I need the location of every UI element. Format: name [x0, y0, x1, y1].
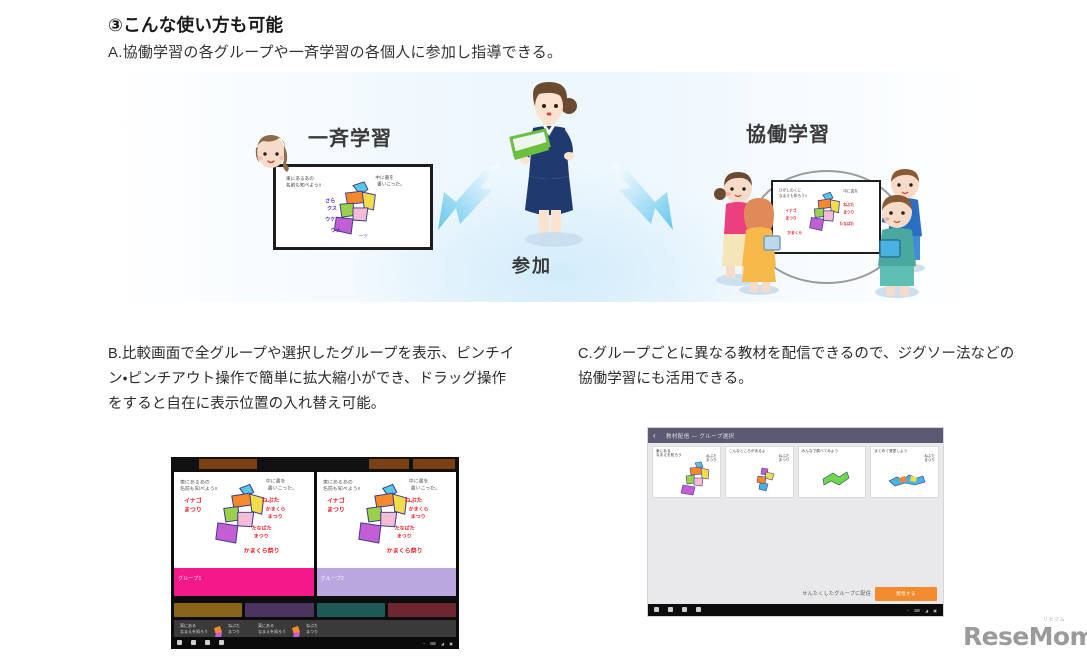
card-title: みんなで調べてみよう [802, 449, 839, 453]
pane-right-footer-text: グループ2 [321, 575, 344, 582]
screenshot-material-distribution: ‹ 教材配信 ― グループ選択 東にあるなまえを知ろう ねぶたまつり こんなとこ… [647, 427, 944, 617]
pane-left[interactable]: 東にあるあの 名前も知ぺよう!! 中に書を 書いこった。 イナゴ まつり ねぶた… [174, 472, 314, 596]
svg-text:名前も知ぺよう!!: 名前も知ぺよう!! [322, 485, 360, 492]
svg-text:書いこった。: 書いこった。 [410, 484, 439, 491]
svg-text:中に書を: 中に書を [408, 478, 428, 485]
svg-text:まつり: まつり [843, 210, 854, 215]
svg-text:ねぶた: ねぶた [404, 496, 422, 504]
svg-text:さら: さら [325, 197, 335, 204]
svg-text:クス: クス [327, 205, 337, 212]
app-icon[interactable] [696, 607, 701, 612]
svg-text:中に書を: 中に書を [375, 174, 394, 181]
whiteboard-left: 東にあるあの 名前も知ぺよう!! 中に書を 書いこった。 さら クス ウケ ウナ… [273, 164, 433, 250]
group-tab-row [174, 603, 456, 617]
card-title: まとめて発表しよう [874, 449, 907, 453]
resemom-logo-sup: リセマム [1043, 616, 1065, 623]
card-map-thumb [673, 461, 719, 497]
svg-text:かまくら: かまくら [408, 505, 428, 512]
svg-text:ひがしのくに: ひがしのくに [779, 187, 802, 192]
card-title: 東にあるなまえを知ろう [656, 449, 682, 458]
svg-text:中に書を: 中に書を [843, 188, 858, 193]
chevron-left-icon[interactable]: ‹ [653, 431, 656, 440]
svg-text:ねぶた: ねぶた [306, 622, 318, 628]
svg-text:イナゴ: イナゴ [326, 497, 344, 505]
card-map-thumb [887, 471, 927, 491]
card-note: ねぶたまつり [924, 454, 935, 463]
search-icon[interactable] [668, 607, 673, 612]
top-tab-2 [369, 459, 409, 469]
pane-right-map: 東にあるあの 名前も知ぺよう!! 中に書を 書いこった。 イナゴ まつり ねぶた… [317, 472, 457, 568]
top-tab-1 [199, 459, 257, 469]
page-title: ③こんな使い方も可能 [108, 12, 283, 37]
footer-label: せんたくしたグループに配信 [802, 590, 871, 597]
group-scene: ひがしのくに なまえも知ろう!! 中に書を イナゴ まつり ねぶた まつり たな… [708, 150, 958, 300]
svg-text:ーツ: ーツ [359, 234, 369, 239]
svg-text:かまくら: かまくら [787, 230, 802, 235]
group-tab-3[interactable] [317, 603, 385, 617]
whiteboard-map-drawing: 東にあるあの 名前も知ぺよう!! 中に書を 書いこった。 さら クス ウケ ウナ… [276, 167, 430, 247]
group-tab-1[interactable] [174, 603, 242, 617]
svg-text:ねぶた: ねぶた [262, 496, 280, 504]
svg-text:東にあるあの: 東にあるあの [286, 175, 314, 182]
screenshot-right-header: ‹ 教材配信 ― グループ選択 [648, 428, 943, 443]
search-icon[interactable] [191, 640, 196, 645]
screenshot-left-topbar [171, 457, 459, 471]
svg-text:東にあるあの: 東にあるあの [180, 479, 210, 486]
start-icon[interactable] [177, 640, 182, 645]
svg-text:名前も知ぺよう!!: 名前も知ぺよう!! [286, 182, 321, 189]
windows-taskbar-left: ^ ⌨ ◢ ▣ [171, 637, 459, 649]
svg-text:たなばた: たなばた [394, 525, 414, 532]
svg-text:ねぶた: ねぶた [843, 202, 854, 207]
student-head-left-icon [251, 132, 291, 174]
screenshot-comparison-view: 東にあるあの 名前も知ぺよう!! 中に書を 書いこった。 イナゴ まつり ねぶた… [171, 457, 459, 649]
pane-left-footer: グループ1 [174, 568, 314, 596]
student-girl-orange [730, 196, 788, 296]
svg-text:書いこった。: 書いこった。 [268, 484, 297, 491]
paragraph-b: B.比較画面で全グループや選択したグループを表示、ピンチイン・ピンチアウト操作で… [108, 342, 518, 417]
resemom-logo: ReseMom. [963, 622, 1087, 651]
pane-right[interactable]: 東にあるあの 名前も知ぺよう!! 中に書を 書いこった。 イナゴ まつり ねぶた… [317, 472, 457, 596]
svg-text:かまくら祭り: かまくら祭り [386, 547, 422, 555]
svg-text:書いこった。: 書いこった。 [377, 181, 405, 188]
svg-text:名前も知ぺよう!!: 名前も知ぺよう!! [180, 485, 218, 492]
screenshot-right-title: 教材配信 ― グループ選択 [666, 432, 734, 440]
distribute-button[interactable]: 配信する [875, 587, 937, 601]
group-tab-4[interactable] [388, 603, 456, 617]
material-card[interactable]: みんなで調べてみよう [798, 446, 867, 498]
svg-text:たなばた: たなばた [252, 525, 272, 532]
svg-text:イナゴ: イナゴ [184, 497, 202, 505]
svg-text:かまくら: かまくら [266, 505, 286, 512]
pane-left-footer-text: グループ1 [178, 575, 201, 582]
svg-text:まつり: まつり [326, 505, 344, 513]
material-card-list: 東にあるなまえを知ろう ねぶたまつり こんなところがあるよ ねぶたまつり [652, 446, 939, 498]
top-tab-3 [413, 459, 455, 469]
taskview-icon[interactable] [205, 640, 210, 645]
teacher-figure [503, 80, 593, 260]
svg-text:中に書を: 中に書を [266, 478, 286, 485]
arrow-right-icon [595, 158, 681, 244]
group-tab-2[interactable] [245, 603, 313, 617]
screenshot-right-footer: せんたくしたグループに配信 配信する [648, 586, 943, 604]
material-card[interactable]: まとめて発表しよう ねぶたまつり [870, 446, 939, 498]
material-card[interactable]: 東にあるなまえを知ろう ねぶたまつり [652, 446, 721, 498]
svg-text:まつり: まつり [306, 628, 318, 634]
svg-text:東にある: 東にある [180, 622, 196, 628]
shared-board-map: ひがしのくに なまえも知ろう!! 中に書を イナゴ まつり ねぶた まつり たな… [773, 182, 878, 251]
svg-text:なまえを知ろう: なまえを知ろう [258, 628, 286, 634]
svg-text:まつり: まつり [410, 513, 425, 520]
svg-text:まつり: まつり [254, 532, 269, 539]
comparison-panes: 東にあるあの 名前も知ぺよう!! 中に書を 書いこった。 イナゴ まつり ねぶた… [174, 472, 456, 596]
svg-text:ねぶた: ねぶた [228, 622, 240, 628]
app-icon[interactable] [219, 640, 224, 645]
label-participate: 参加 [512, 252, 552, 278]
illustration-diagram: 一斉学習 東にあるあの 名前も知ぺよう!! 中に書を 書いこった。 [108, 72, 978, 302]
system-tray[interactable]: ^ ⌨ ◢ ▣ [907, 608, 939, 613]
svg-text:かまくら祭り: かまくら祭り [244, 547, 280, 555]
start-icon[interactable] [654, 607, 659, 612]
label-whole-class-learning: 一斉学習 [308, 122, 392, 151]
svg-text:ウナ: ウナ [331, 227, 341, 234]
svg-text:まつり: まつり [184, 505, 202, 513]
svg-text:東にあるあの: 東にあるあの [322, 479, 352, 486]
teacher-shadow [525, 232, 583, 247]
paragraph-c: C.グループごとに異なる教材を配信できるので、ジグソー法などの協働学習にも活用で… [578, 342, 1018, 392]
taskview-icon[interactable] [682, 607, 687, 612]
svg-text:ウケ: ウケ [325, 216, 335, 223]
subtitle-a: A.協働学習の各グループや一斉学習の各個人に参加し指導できる。 [108, 41, 562, 62]
pane-left-map: 東にあるあの 名前も知ぺよう!! 中に書を 書いこった。 イナゴ まつり ねぶた… [174, 472, 314, 568]
system-tray[interactable]: ^ ⌨ ◢ ▣ [423, 641, 455, 646]
svg-text:まつり: まつり [228, 628, 240, 634]
page-root: ③こんな使い方も可能 A.協働学習の各グループや一斉学習の各個人に参加し指導でき… [0, 0, 1087, 665]
windows-taskbar-right: ^ ⌨ ◢ ▣ [648, 604, 943, 616]
svg-text:東にある: 東にある [258, 622, 274, 628]
svg-text:まつり: まつり [268, 513, 283, 520]
svg-text:たなばた: たなばた [839, 221, 854, 226]
distribute-button-label: 配信する [875, 587, 937, 601]
card-map-thumb [750, 467, 780, 495]
card-note: ねぶたまつり [779, 454, 790, 463]
svg-text:なまえを知ろう: なまえを知ろう [180, 628, 208, 634]
student-boy-teal [864, 192, 930, 300]
pane-right-footer: グループ2 [317, 568, 457, 596]
label-collaborative-learning: 協働学習 [746, 118, 830, 147]
material-card[interactable]: こんなところがあるよ ねぶたまつり [725, 446, 794, 498]
card-title: こんなところがあるよ [729, 449, 766, 453]
svg-text:まつり: まつり [396, 532, 411, 539]
card-map-thumb [819, 469, 853, 493]
